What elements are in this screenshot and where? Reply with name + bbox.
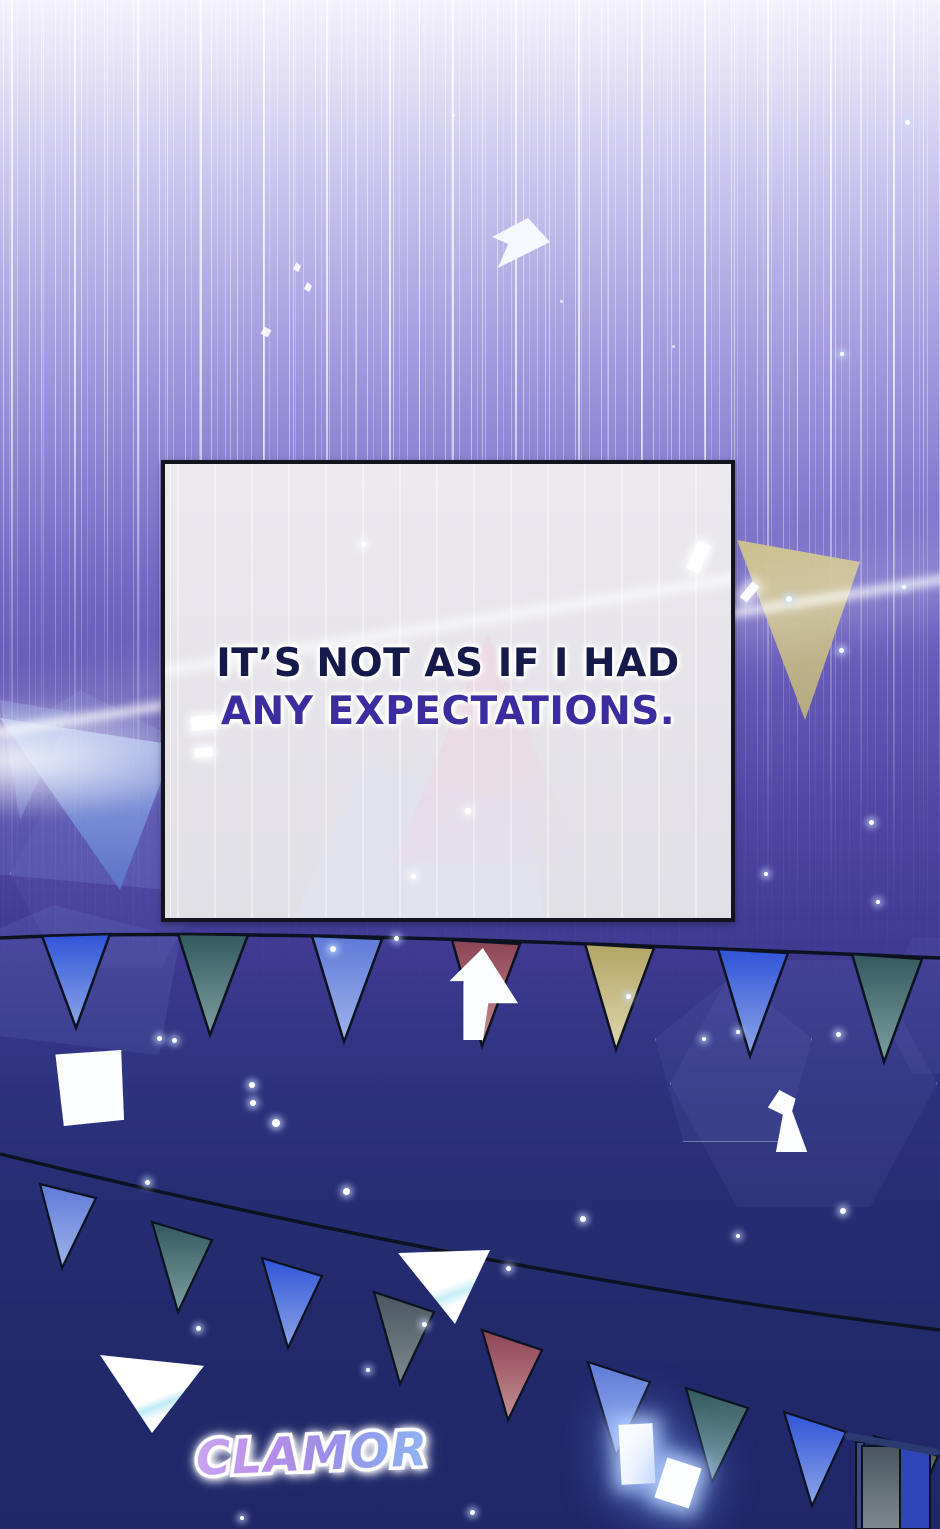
star-dot (394, 936, 399, 941)
star-dot (196, 1326, 201, 1331)
caption-box-chip-f (411, 874, 416, 879)
star-dot (869, 820, 874, 825)
star-dot (157, 1036, 162, 1041)
star-dot (836, 1032, 841, 1037)
star-dot (672, 345, 675, 348)
caption-box-chip-a (361, 542, 366, 547)
star-dot (172, 1038, 177, 1043)
confetti-square-left-glow (54, 1050, 124, 1126)
star-dot (272, 1119, 280, 1127)
confetti-rect-bottom-mid (618, 1423, 655, 1485)
star-dot (905, 120, 910, 125)
caption-line-1: IT’S NOT AS IF I HAD (165, 640, 731, 688)
star-dot (580, 1216, 586, 1222)
star-dot (506, 1266, 511, 1271)
star-dot (366, 1368, 370, 1372)
star-dot (343, 1188, 350, 1195)
star-dot (240, 1516, 244, 1520)
star-dot (702, 1037, 706, 1041)
star-dot (422, 1322, 427, 1327)
caption-text: IT’S NOT AS IF I HAD ANY EXPECTATIONS. (165, 640, 731, 735)
star-dot (839, 648, 844, 653)
star-dot (902, 585, 906, 589)
star-dot (840, 352, 844, 356)
star-dot (452, 114, 455, 117)
star-dot (249, 1082, 255, 1088)
caption-box: IT’S NOT AS IF I HAD ANY EXPECTATIONS. (161, 460, 735, 922)
star-dot (626, 994, 631, 999)
star-dot (250, 1100, 256, 1106)
sfx-clamor: CLAMOR (195, 1422, 430, 1487)
star-dot (876, 900, 880, 904)
star-dot (470, 1510, 475, 1515)
star-dot (330, 946, 336, 952)
star-dot (840, 1208, 846, 1214)
caption-box-chip-c (195, 747, 214, 758)
star-dot (764, 872, 768, 876)
star-dot (736, 1234, 740, 1238)
star-dot (145, 1180, 150, 1185)
caption-line-2: ANY EXPECTATIONS. (165, 688, 731, 736)
comic-panel: IT’S NOT AS IF I HAD ANY EXPECTATIONS. C… (0, 0, 940, 1529)
star-dot (786, 596, 792, 602)
caption-box-chip-e (465, 808, 471, 814)
star-dot (736, 1030, 740, 1034)
star-dot (560, 300, 563, 303)
